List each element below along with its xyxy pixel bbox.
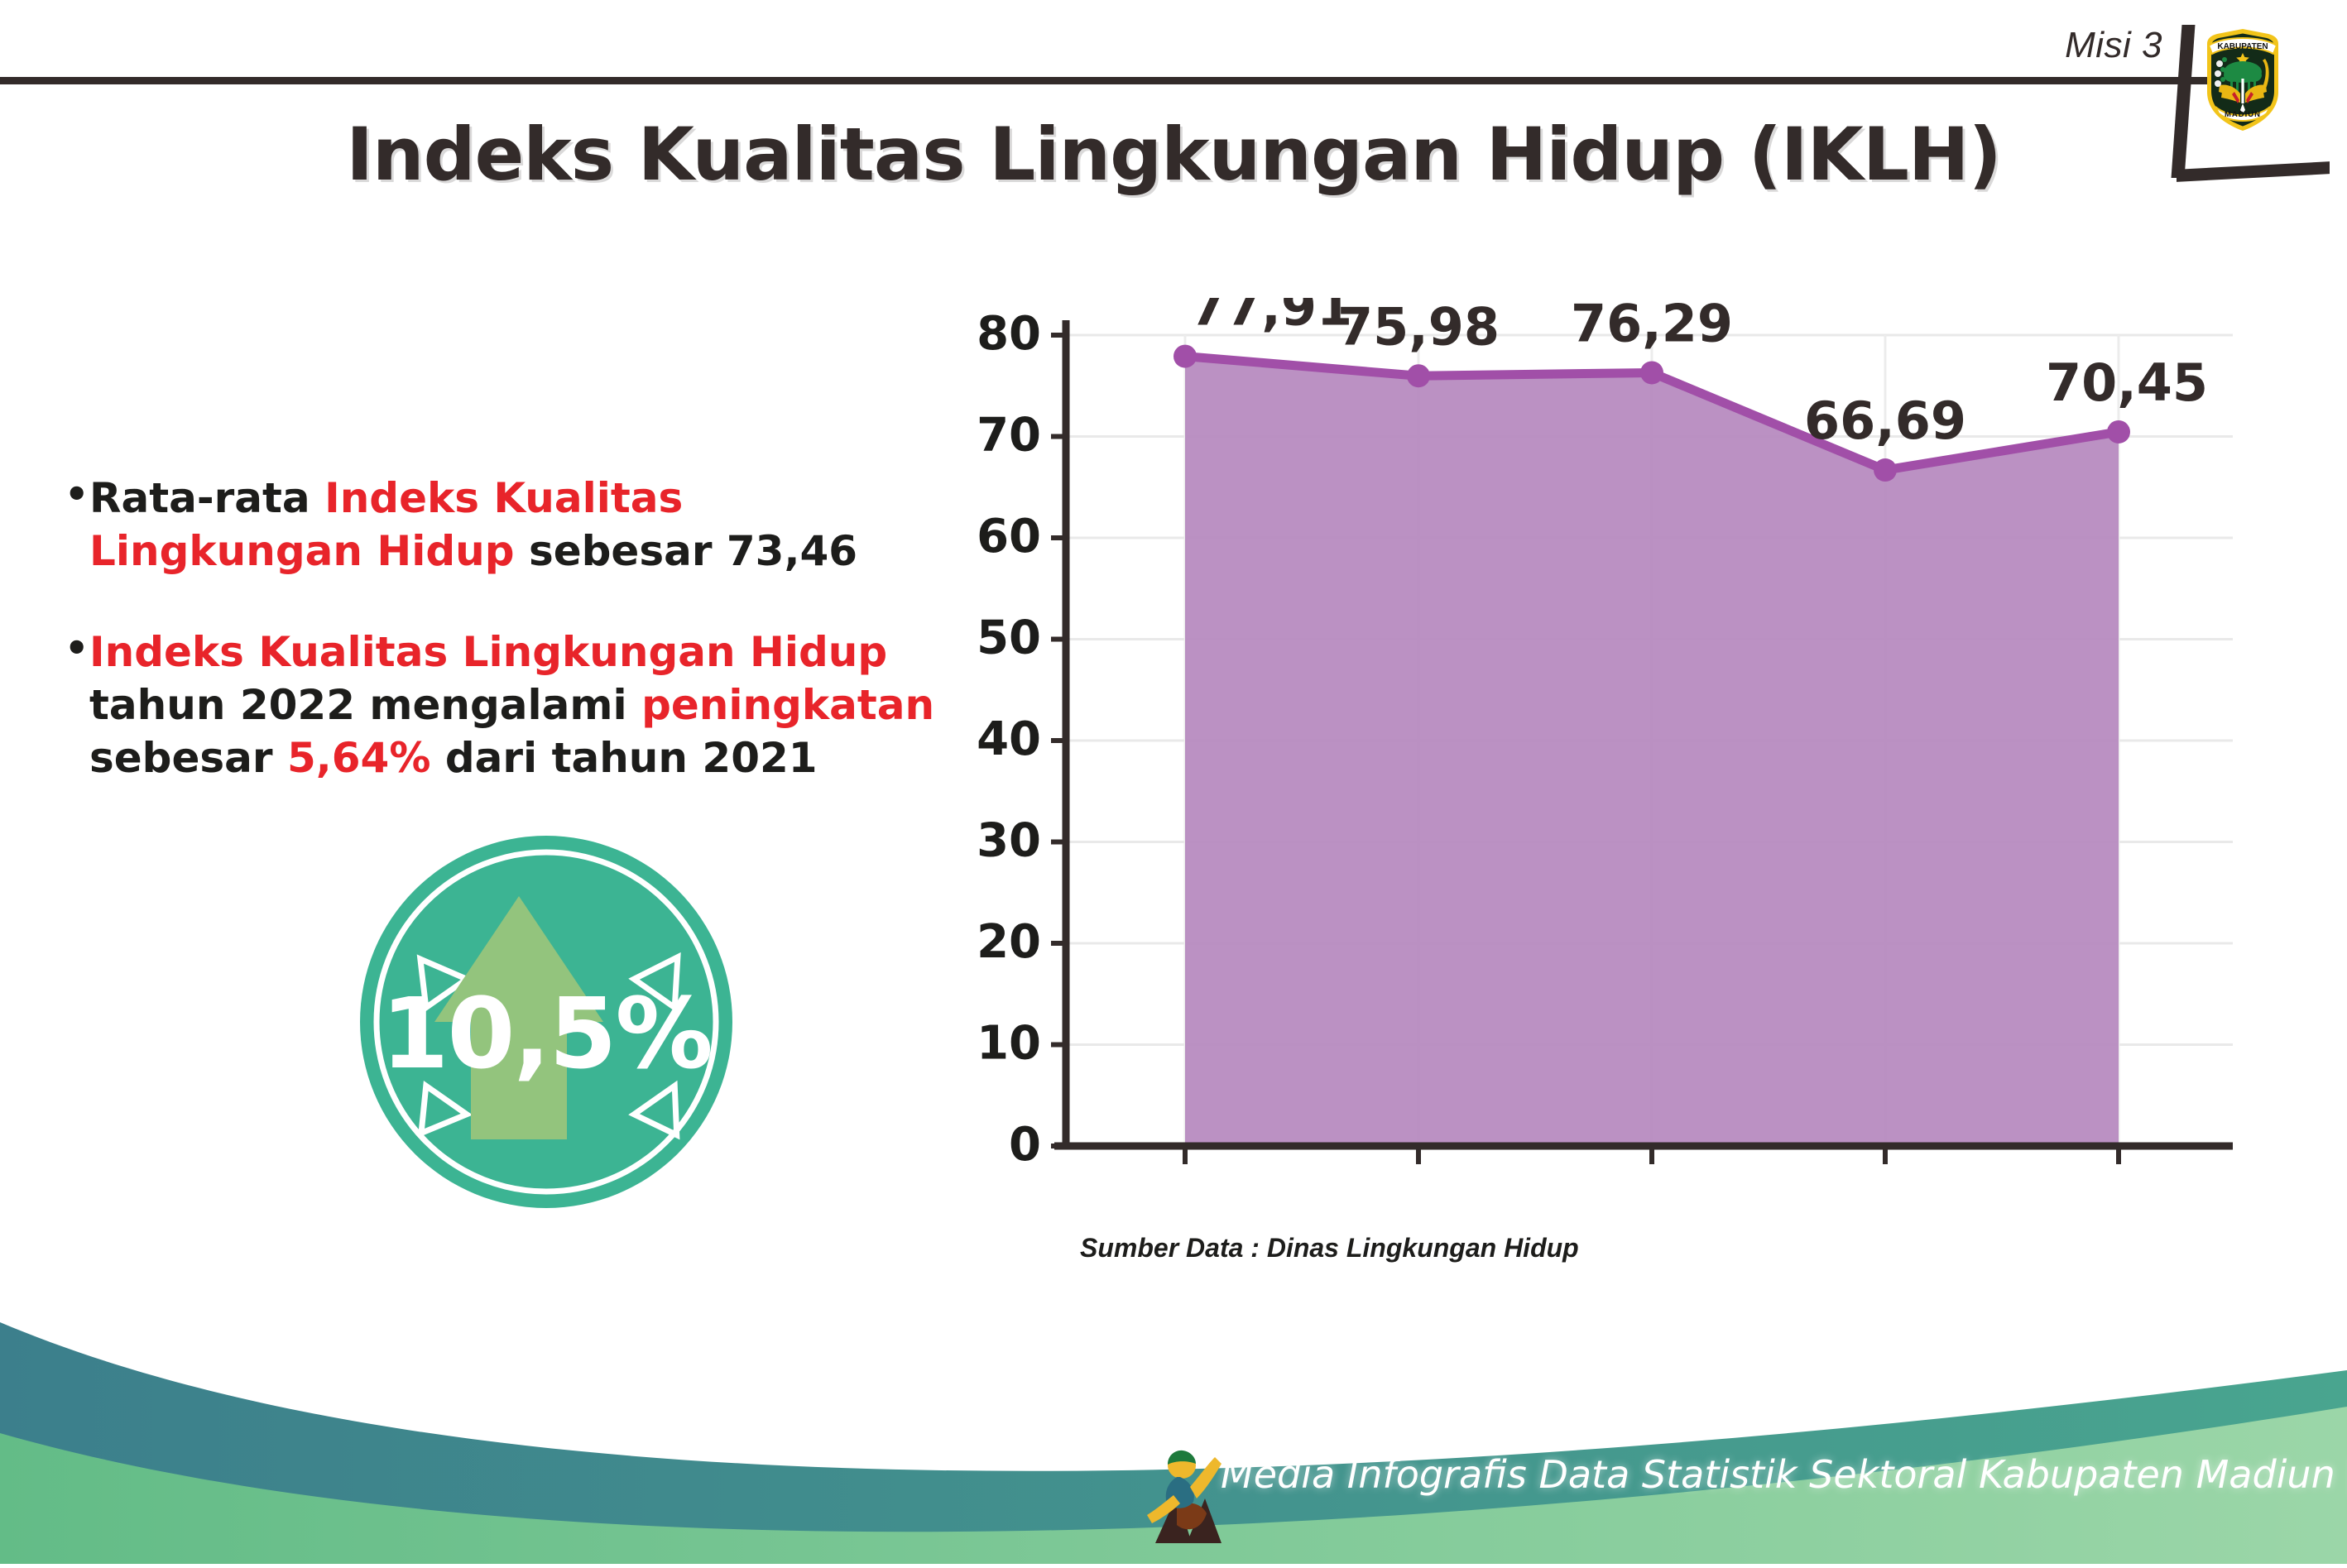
header-rule [0,77,2234,84]
data-label: 66,69 [1804,391,1966,451]
bullet-1-span-2: peningkatan [641,681,934,729]
y-tick-label: 80 [977,307,1041,361]
bullet-1-span-0: Indeks Kualitas Lingkungan Hidup [89,628,887,676]
bullet-1-span-1: tahun 2022 mengalami [89,681,641,729]
mission-label: Misi 3 [2065,25,2162,66]
x-tick-label: 2020 [1581,1172,1724,1175]
statistics-figure-icon [1140,1444,1231,1560]
y-tick-label: 60 [977,510,1041,563]
bullet-0-span-2: sebesar 73,46 [515,527,858,575]
y-tick-label: 40 [977,712,1041,766]
data-point-marker [2107,420,2130,444]
y-tick-label: 50 [977,611,1041,665]
data-point-marker [1173,345,1197,368]
bullet-1-span-3: sebesar [89,734,287,782]
x-tick-label: 2019 [1347,1172,1490,1175]
area-fill [1185,357,2119,1146]
data-label: 75,98 [1337,298,1500,357]
list-item: Rata-rata Indeks Kualitas Lingkungan Hid… [65,472,958,578]
y-tick-label: 30 [977,814,1041,868]
data-label: 70,45 [2046,352,2208,413]
infographic-page: Misi 3 KABUPATEN [0,0,2347,1564]
y-tick-label: 0 [1009,1118,1041,1172]
data-point-marker [1407,364,1430,387]
iklh-area-chart: 010203040506070802018201920202021202277,… [977,298,2251,1175]
x-tick-label: 2022 [2047,1172,2191,1175]
y-tick-label: 70 [977,409,1041,463]
page-title: Indeks Kualitas Lingkungan Hidup (IKLH) [0,112,2347,197]
data-label: 76,29 [1571,298,1733,353]
y-tick-label: 20 [977,915,1041,969]
data-point-marker [1640,361,1663,384]
badge-value: 10,5% [327,976,766,1091]
bullet-0-span-0: Rata-rata [89,474,324,522]
x-tick-label: 2021 [1814,1172,1957,1175]
data-point-marker [1874,458,1897,482]
x-tick-label: 2018 [1114,1172,1257,1175]
svg-text:KABUPATEN: KABUPATEN [2217,42,2268,51]
y-tick-label: 10 [977,1017,1041,1071]
data-label: 77,91 [1190,298,1352,338]
chart-source-note: Sumber Data : Dinas Lingkungan Hidup [1080,1233,1579,1264]
footer-label: Media Infografis Data Statistik Sektoral… [1221,1452,2347,1497]
